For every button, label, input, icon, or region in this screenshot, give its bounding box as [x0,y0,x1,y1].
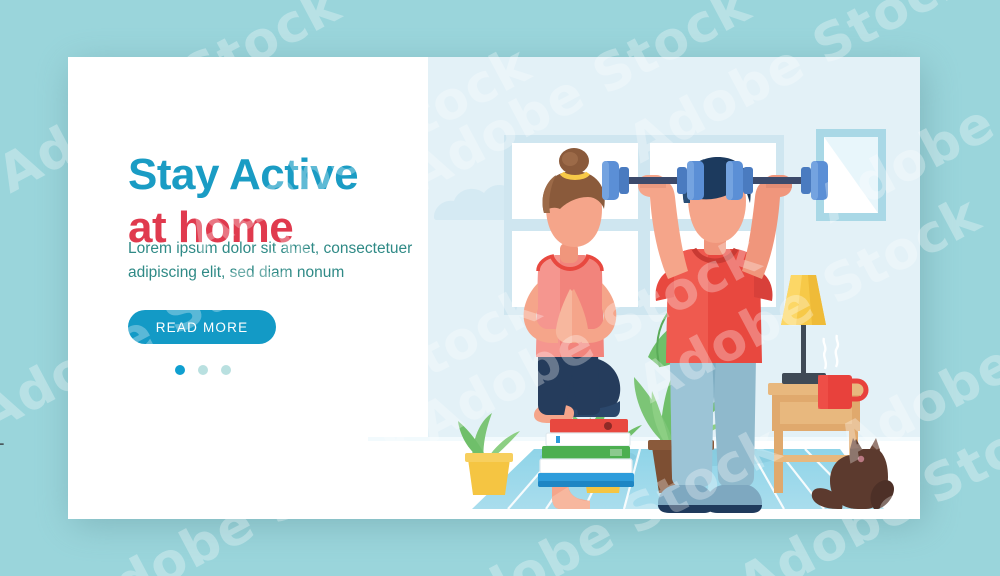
book-stack [538,419,634,487]
carousel-dot-2[interactable] [198,365,208,375]
illustration-canvas: Stay Active at home Lorem ipsum dolor si… [0,0,1000,576]
hero-subcopy-line-2: adipiscing elit, sed diam nonum [128,261,458,285]
home-workout-illustration [68,57,920,519]
hero-subcopy: Lorem ipsum dolor sit amet, consectetuer… [128,237,458,285]
carousel-dots [175,365,231,375]
read-more-button[interactable]: READ MORE [128,310,276,344]
carousel-dot-1[interactable] [175,365,185,375]
hero-subcopy-line-1: Lorem ipsum dolor sit amet, consectetuer [128,237,458,261]
hero-card: Stay Active at home Lorem ipsum dolor si… [68,57,920,519]
carousel-dot-3[interactable] [221,365,231,375]
adobe-stock-credit: Adobe Stock | #353197685 [0,324,4,564]
hero-headline-line-1: Stay Active [128,153,358,197]
